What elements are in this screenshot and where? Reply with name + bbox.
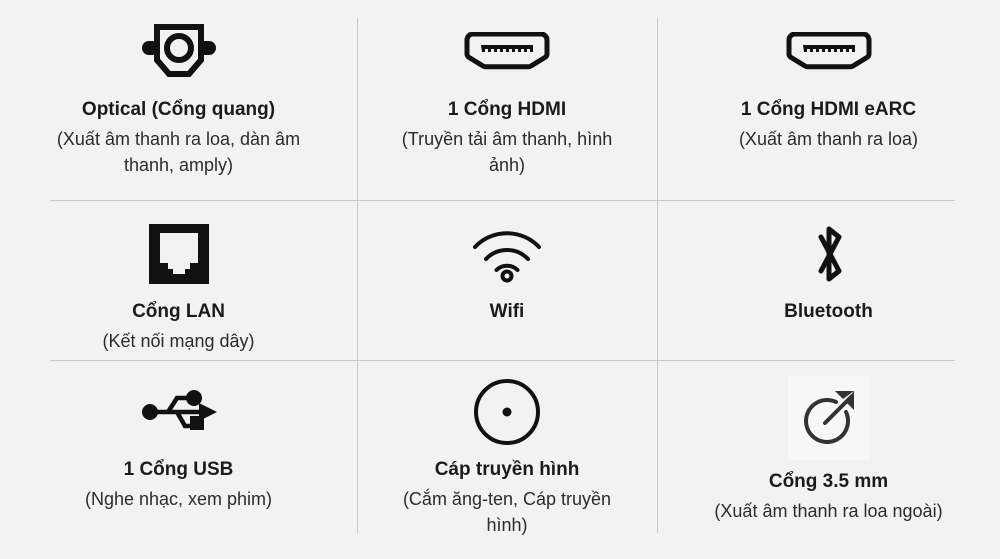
port-label: Cổng LAN bbox=[132, 300, 225, 324]
port-description: (Nghe nhạc, xem phim) bbox=[85, 486, 272, 512]
port-cell-usb: 1 Cổng USB (Nghe nhạc, xem phim) bbox=[0, 360, 357, 559]
port-label: Optical (Cổng quang) bbox=[82, 98, 275, 122]
usb-port-icon bbox=[137, 376, 221, 448]
port-description: (Kết nối mạng dây) bbox=[102, 328, 254, 354]
audio-jack-35mm-icon bbox=[788, 376, 870, 460]
port-description: (Xuất âm thanh ra loa) bbox=[739, 126, 918, 152]
optical-port-icon bbox=[140, 22, 218, 84]
port-label: 1 Cổng HDMI eARC bbox=[741, 98, 916, 122]
port-label: 1 Cổng HDMI bbox=[448, 98, 566, 122]
port-description: (Xuất âm thanh ra loa ngoài) bbox=[714, 498, 942, 524]
port-label: Wifi bbox=[490, 300, 525, 324]
port-cell-hdmi: 1 Cổng HDMI (Truyền tải âm thanh, hình ả… bbox=[357, 0, 657, 200]
port-label: Bluetooth bbox=[784, 300, 873, 324]
coaxial-antenna-icon bbox=[472, 376, 542, 448]
port-cell-coaxial: Cáp truyền hình (Cắm ăng-ten, Cáp truyền… bbox=[357, 360, 657, 559]
port-cell-hdmi-earc: 1 Cổng HDMI eARC (Xuất âm thanh ra loa) bbox=[657, 0, 1000, 200]
hdmi-earc-port-icon bbox=[781, 22, 877, 84]
port-cell-bluetooth: Bluetooth bbox=[657, 200, 1000, 360]
lan-port-icon bbox=[147, 222, 211, 286]
hdmi-port-icon bbox=[459, 22, 555, 84]
port-cell-optical: Optical (Cổng quang) (Xuất âm thanh ra l… bbox=[0, 0, 357, 200]
connectivity-spec-board: Optical (Cổng quang) (Xuất âm thanh ra l… bbox=[0, 0, 1000, 559]
port-cell-audio-jack: Cổng 3.5 mm (Xuất âm thanh ra loa ngoài) bbox=[657, 360, 1000, 559]
port-description: (Truyền tải âm thanh, hình ảnh) bbox=[382, 126, 632, 178]
port-cell-wifi: Wifi bbox=[357, 200, 657, 360]
port-grid: Optical (Cổng quang) (Xuất âm thanh ra l… bbox=[0, 0, 1000, 559]
port-cell-lan: Cổng LAN (Kết nối mạng dây) bbox=[0, 200, 357, 360]
bluetooth-icon bbox=[805, 222, 853, 286]
port-label: Cáp truyền hình bbox=[435, 458, 580, 482]
port-label: 1 Cổng USB bbox=[124, 458, 234, 482]
wifi-icon bbox=[469, 222, 545, 286]
port-description: (Xuất âm thanh ra loa, dàn âm thanh, amp… bbox=[54, 126, 304, 178]
port-label: Cổng 3.5 mm bbox=[769, 470, 888, 494]
port-description: (Cắm ăng-ten, Cáp truyền hình) bbox=[382, 486, 632, 538]
